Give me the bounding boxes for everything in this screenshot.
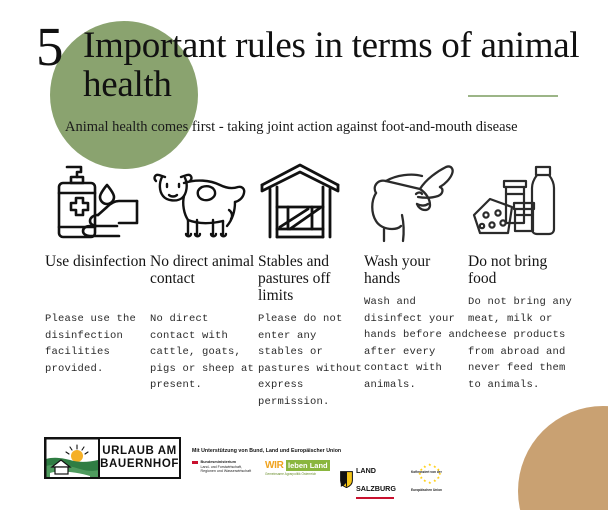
page-subtitle: Animal health comes first - taking joint… — [65, 118, 595, 136]
bundesministerium-logo: Bundesministerium Land- und Forstwirtsch… — [192, 460, 256, 474]
rule-column-1: Use disinfection Please use the disinfec… — [45, 163, 145, 245]
rule-heading: No direct animal contact — [150, 253, 255, 287]
ministry-dept-line-2: Regionen und Wasserwirtschaft — [201, 469, 252, 473]
eu-cofunding-logo: ★ ★ ★ ★ ★ ★ ★ ★ ★ ★ ★ ★ Kofinanziert von… — [411, 460, 479, 496]
salzburg-coat-of-arms-icon — [340, 471, 353, 488]
footer: URLAUB AM BAUERNHOF Mit Unterstützung vo… — [0, 432, 608, 510]
eu-line-2: Europäischen Union — [411, 488, 442, 492]
wir-text: WIR — [265, 460, 284, 471]
infographic-page: 5 Important rules in terms of animal hea… — [0, 0, 608, 510]
rule-column-5: Do not bring food Do not bring any meat,… — [468, 163, 568, 245]
hand-sanitizer-icon — [45, 163, 145, 245]
rule-heading: Wash your hands — [364, 253, 469, 287]
rule-heading: Use disinfection — [45, 253, 150, 270]
farm-scene-icon — [46, 439, 100, 477]
support-note: Mit Unterstützung von Bund, Land und Eur… — [192, 448, 432, 455]
partner-logos: Bundesministerium Land- und Forstwirtsch… — [192, 460, 479, 499]
cow-icon — [150, 163, 250, 245]
salzburg-line-2: SALZBURG — [356, 484, 396, 493]
rule-body: Wash and disinfect your hands before and… — [364, 294, 469, 393]
rule-count-number: 5 — [36, 19, 64, 74]
salzburg-rule — [356, 497, 394, 499]
rule-column-4: Wash your hands Wash and disinfect your … — [364, 163, 464, 245]
urlaub-am-bauernhof-logo: URLAUB AM BAUERNHOF — [44, 437, 181, 479]
brand-line-2: BAUERNHOF — [100, 458, 179, 471]
salzburg-line-1: LAND — [356, 466, 376, 475]
rule-column-2: No direct animal contact No direct conta… — [150, 163, 250, 245]
rule-heading: Stables and pastures off limits — [258, 253, 363, 304]
wir-leben-land-logo: WIR leben Land Gemeinsame Agrarpolitik Ö… — [265, 460, 331, 477]
brand-line-1: URLAUB AM — [102, 445, 177, 458]
rule-body: No direct contact with cattle, goats, pi… — [150, 311, 255, 394]
rule-body: Please do not enter any stables or pastu… — [258, 311, 363, 410]
leben-land-text: leben Land — [286, 460, 331, 471]
rule-body: Please use the disinfection facilities p… — [45, 311, 150, 377]
rule-column-3: Stables and pastures off limits Please d… — [258, 163, 358, 245]
hand-washing-dog-icon — [364, 163, 464, 245]
austria-flag-bar-icon — [192, 461, 198, 464]
rule-heading: Do not bring food — [468, 253, 573, 287]
page-title: Important rules in terms of animal healt… — [83, 26, 583, 104]
title-underline-rule — [468, 95, 558, 97]
dairy-food-icon — [468, 163, 568, 245]
ministry-dept-line-1: Land- und Forstwirtschaft, — [201, 465, 243, 469]
land-salzburg-logo: LAND SALZBURG — [340, 460, 402, 499]
rule-body: Do not bring any meat, milk or cheese pr… — [468, 294, 573, 393]
barn-icon — [258, 163, 358, 245]
support-note-text: Mit Unterstützung von Bund, Land und Eur… — [192, 448, 432, 455]
wir-subtitle: Gemeinsame Agrarpolitik Österreich — [265, 472, 331, 477]
